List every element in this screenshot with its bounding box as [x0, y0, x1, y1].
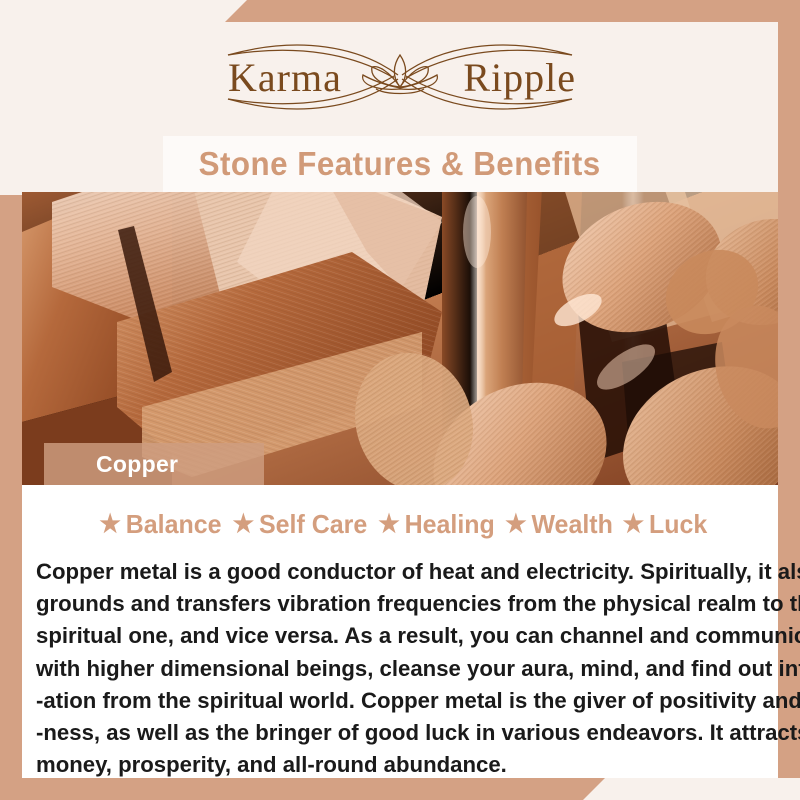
description-line: -ness, as well as the bringer of good lu…: [36, 717, 753, 749]
star-icon: ★: [378, 512, 400, 537]
brand-name-right: Ripple: [463, 54, 576, 101]
frame-bar-bottom: [0, 778, 605, 800]
benefit-label: Luck: [649, 509, 707, 540]
benefits-row: ★ Balance ★ Self Care ★ Healing ★ Wealth…: [22, 485, 778, 550]
content-panel: ★ Balance ★ Self Care ★ Healing ★ Wealth…: [22, 485, 778, 778]
benefit-label: Wealth: [532, 509, 613, 540]
star-icon: ★: [99, 512, 121, 537]
frame-bar-top: [225, 0, 800, 22]
star-icon: ★: [505, 512, 527, 537]
benefit-label: Healing: [404, 509, 494, 540]
description-line: grounds and transfers vibration frequenc…: [36, 588, 753, 620]
description-line: Copper metal is a good conductor of heat…: [36, 556, 753, 588]
benefit-label: Self Care: [259, 509, 367, 540]
page-title: Stone Features & Benefits: [199, 145, 601, 183]
benefit-item: ★ Balance: [93, 509, 221, 540]
photo-caption-label: Copper: [96, 451, 178, 478]
star-icon: ★: [623, 512, 645, 537]
frame-bar-left: [0, 195, 22, 778]
benefit-label: Balance: [125, 509, 221, 540]
benefit-item: ★ Healing: [372, 509, 494, 540]
star-icon: ★: [232, 512, 254, 537]
benefit-item: ★ Luck: [617, 509, 707, 540]
description-line: spiritual one, and vice versa. As a resu…: [36, 620, 753, 652]
brand-name-left: Karma: [228, 54, 342, 101]
benefit-item: ★ Wealth: [500, 509, 613, 540]
photo-artwork: [22, 192, 778, 485]
description-text: Copper metal is a good conductor of heat…: [36, 556, 753, 781]
description-line: money, prosperity, and all-round abundan…: [36, 749, 753, 781]
description-line: with higher dimensional beings, cleanse …: [36, 653, 753, 685]
copper-bars-photo: Copper: [22, 192, 778, 485]
title-banner: Stone Features & Benefits: [163, 136, 637, 192]
photo-caption-bar: Copper: [44, 443, 264, 485]
description-line: -ation from the spiritual world. Copper …: [36, 685, 753, 717]
brand-logo: Karma Ripple: [22, 22, 778, 132]
product-infographic: Karma Ripple Stone Features & Benefits: [0, 0, 800, 800]
benefit-item: ★ Self Care: [227, 509, 367, 540]
